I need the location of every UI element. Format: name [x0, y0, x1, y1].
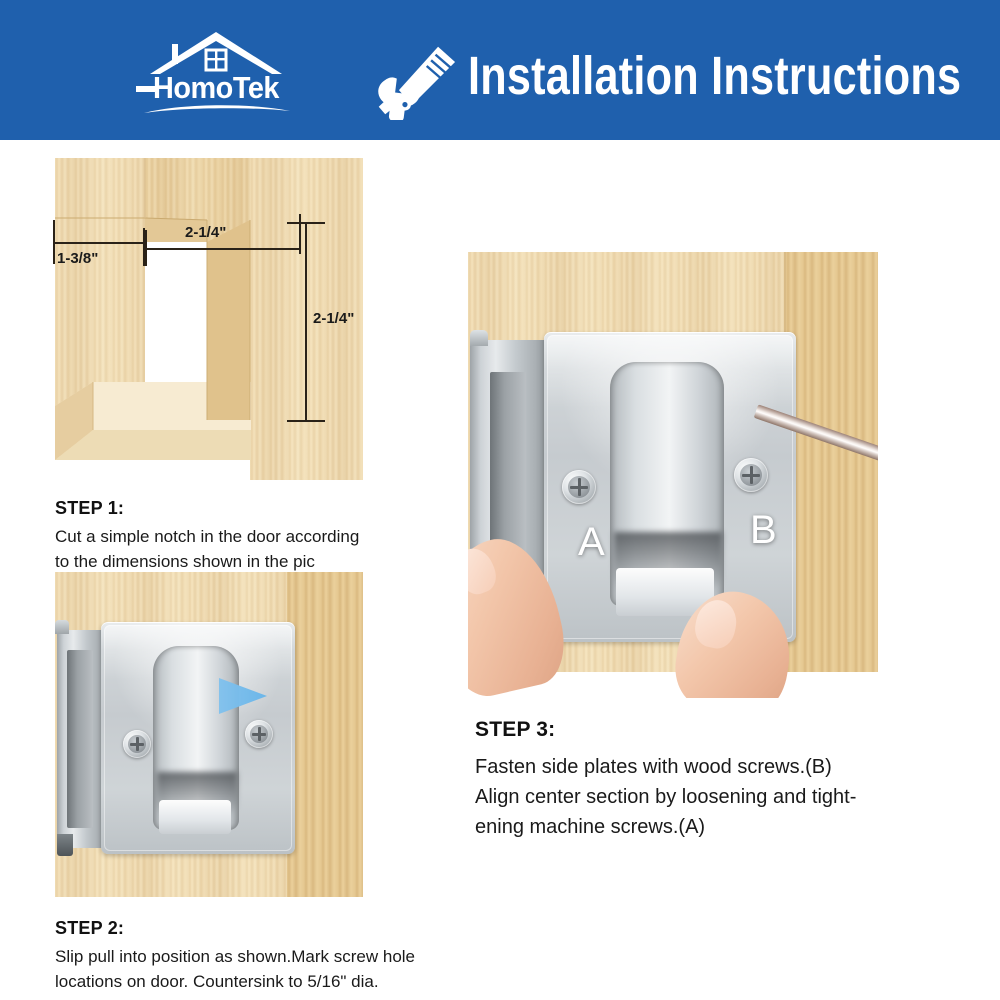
wrench-screwdriver-icon: [374, 44, 460, 120]
direction-arrow-icon: [143, 670, 269, 720]
brand-logo: HomoTek: [128, 30, 304, 116]
step-1-diagram: 2-1/4" 1-3/8" 2-1/4": [55, 158, 363, 480]
step-1-body: Cut a simple notch in the door according…: [55, 524, 375, 574]
dim-left-tick-b: [143, 228, 145, 266]
screw-b: [734, 458, 768, 492]
screw-a: [562, 470, 596, 504]
dim-right-tick-bottom: [287, 420, 325, 422]
pull-side-slot: [67, 650, 93, 828]
page-title: Installation Instructions: [468, 46, 961, 106]
dim-top-tick-right: [299, 214, 301, 254]
dim-right-line: [305, 222, 307, 422]
step-3-photo: A B: [468, 252, 878, 698]
step-1-title: STEP 1:: [55, 498, 124, 519]
pull-side-top-tab: [55, 620, 69, 634]
pull-recess-lip: [159, 800, 231, 834]
dim-top-label: 2-1/4": [185, 224, 226, 241]
screw-left: [123, 730, 151, 758]
label-a: A: [578, 520, 605, 565]
brand-name: HomoTek: [134, 70, 298, 106]
step-2-title: STEP 2:: [55, 918, 124, 939]
door-edge-strip: [786, 252, 878, 672]
dim-right-label: 2-1/4": [313, 310, 354, 327]
dim-left-tick-a: [53, 220, 55, 264]
infographic-page: HomoTek Installation Instructions: [0, 0, 1000, 1000]
logo-swoosh-icon: [142, 102, 292, 116]
pull-face-plate: [101, 622, 295, 854]
dim-left-line: [53, 242, 145, 244]
door-edge-strip: [287, 572, 363, 897]
pull-face-plate: [544, 332, 796, 642]
label-b: B: [750, 508, 777, 553]
page-header: HomoTek Installation Instructions: [0, 0, 1000, 140]
dim-top-tick-left: [145, 230, 147, 266]
pull-side-top-tab: [470, 330, 488, 346]
screw-right: [245, 720, 273, 748]
dim-right-tick-top: [287, 222, 325, 224]
pull-side-bottom-tab: [57, 834, 73, 856]
dim-left-label: 1-3/8": [57, 250, 98, 267]
step-2-photo: [55, 572, 363, 897]
step-3-title: STEP 3:: [475, 718, 555, 742]
step-2-body: Slip pull into position as shown.Mark sc…: [55, 944, 435, 994]
dim-top-line: [145, 248, 301, 250]
step-3-body: Fasten side plates with wood screws.(B) …: [475, 752, 945, 842]
